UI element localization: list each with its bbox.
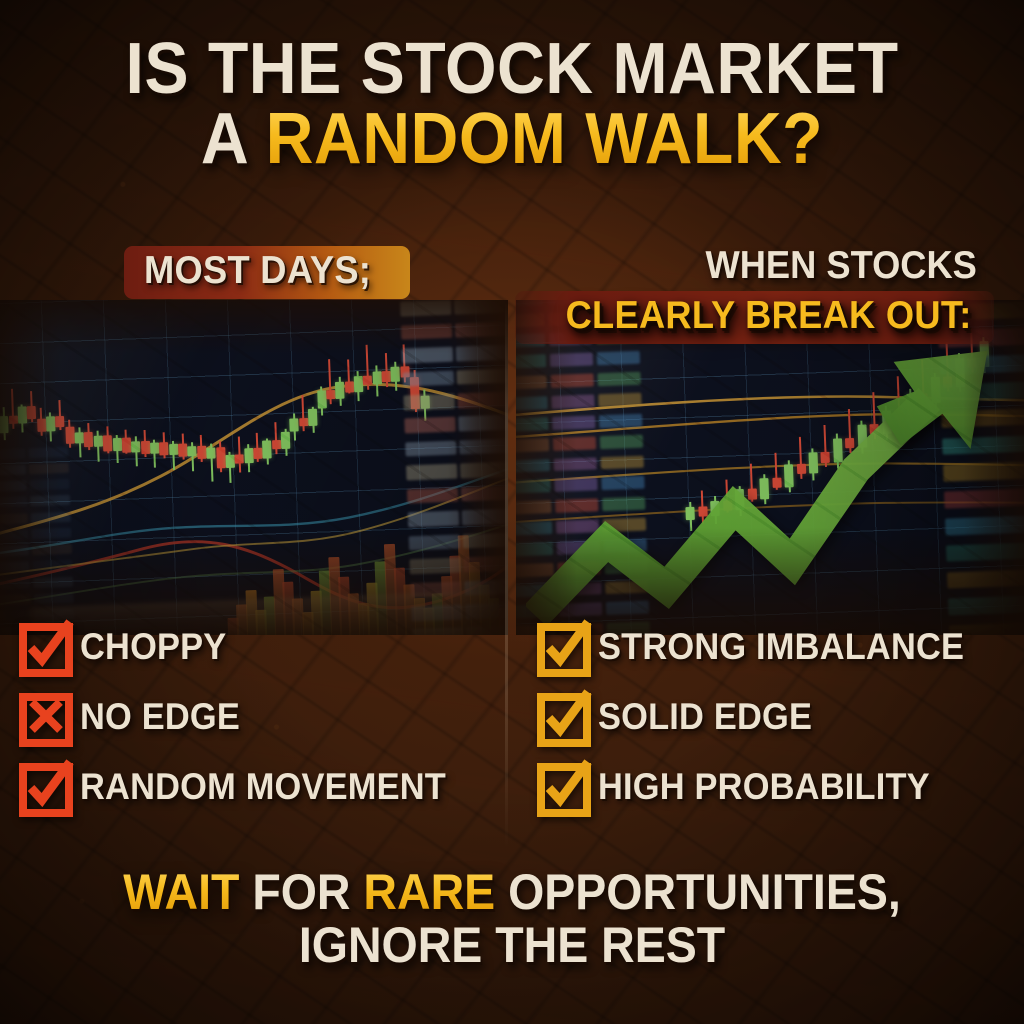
candle-wick [134, 436, 137, 467]
candlestick [159, 442, 168, 455]
poster-canvas: IS THE STOCK MARKET A RANDOM WALK? MOST … [0, 0, 1024, 1024]
candlestick [344, 381, 353, 392]
candle-wick [320, 386, 323, 415]
candlestick [121, 437, 131, 453]
check-icon [18, 618, 74, 674]
candlestick [353, 376, 363, 392]
candlestick [281, 431, 291, 449]
price-ladder-row [33, 576, 74, 588]
candlestick [363, 376, 372, 385]
checkbox-left-0[interactable] [22, 627, 62, 667]
checklist-item-label: CHOPPY [80, 626, 226, 668]
candle-wick [78, 427, 81, 458]
price-ladder-row [28, 446, 69, 458]
footer-line-1: WAIT FOR RARE OPPORTUNITIES, [36, 866, 988, 919]
chart-panel-right [516, 300, 1024, 635]
price-ladder-row [33, 592, 74, 604]
candlestick [27, 406, 36, 419]
candle-wick [365, 345, 369, 390]
candle-wick [87, 423, 90, 450]
price-ladder-row [403, 394, 454, 410]
checkbox-right-2[interactable] [540, 767, 580, 807]
price-ladder-row [0, 480, 27, 492]
candlestick [17, 406, 27, 424]
candlestick [93, 436, 102, 447]
footer-callout: WAIT FOR RARE OPPORTUNITIES, IGNORE THE … [0, 866, 1024, 972]
price-ladder-row [402, 370, 453, 386]
headline-line-2: A RANDOM WALK? [41, 106, 983, 172]
checklist-right: STRONG IMBALANCESOLID EDGEHIGH PROBABILI… [540, 612, 992, 822]
candle-wick [347, 360, 350, 394]
candle-wick [266, 438, 269, 464]
checklist-item[interactable]: RANDOM MOVEMENT [22, 752, 474, 822]
candle-wick [210, 444, 213, 482]
candle-wick [237, 437, 240, 473]
footer-word-wait: WAIT [123, 864, 239, 920]
checklist-item[interactable]: SOLID EDGE [540, 682, 992, 752]
candle-wick [97, 431, 100, 462]
subtitle-banner-left: MOST DAYS; [124, 246, 410, 299]
checkbox-left-2[interactable] [22, 767, 62, 807]
price-ladder-row [0, 529, 29, 541]
candle-wick [394, 361, 397, 390]
price-ladder-row [405, 440, 456, 456]
candlestick [326, 390, 335, 399]
price-ladder-row [30, 495, 71, 507]
price-ladder-row [0, 464, 26, 476]
candle-wick [11, 388, 14, 428]
subtitle-band-right: CLEARLY BREAK OUT: [515, 291, 994, 344]
trading-screen-left [0, 300, 508, 635]
candlestick [244, 448, 254, 464]
footer-word-rare: RARE [363, 864, 495, 920]
price-ladder-row [0, 545, 29, 557]
checklist-item-label: HIGH PROBABILITY [598, 766, 930, 808]
candle-wick [40, 408, 43, 436]
checklist-item[interactable]: CHOPPY [22, 612, 474, 682]
candle-wick [375, 365, 378, 396]
candle-wick [256, 433, 259, 462]
checklist-item-label: RANDOM MOVEMENT [80, 766, 446, 808]
candlestick [140, 441, 149, 454]
candle-wick [30, 391, 33, 422]
candle-wick [115, 435, 118, 463]
price-ladder-row [31, 544, 72, 556]
subtitle-banner-right: WHEN STOCKS CLEARLY BREAK OUT: [515, 246, 994, 344]
subtitle-right-line-2: CLEARLY BREAK OUT: [566, 296, 972, 335]
candlestick [271, 440, 280, 449]
footer-line-2: IGNORE THE REST [36, 919, 988, 972]
candle-wick [357, 371, 360, 400]
candle-wick [106, 427, 109, 454]
candlestick [289, 418, 298, 431]
candle-wick [274, 422, 277, 453]
candlestick [317, 391, 327, 409]
subtitle-band-left: MOST DAYS; [124, 246, 410, 299]
candle-wick [311, 406, 314, 432]
headline-line-1: IS THE STOCK MARKET [41, 36, 983, 102]
candle-wick [229, 452, 232, 483]
cross-icon [18, 688, 74, 744]
candlestick [84, 432, 94, 448]
price-ladder-row [408, 511, 459, 527]
footer-word-for: FOR [239, 864, 363, 920]
candle-wick [21, 404, 24, 433]
footer-word-opportunities: OPPORTUNITIES, [495, 864, 901, 920]
checklist-item[interactable]: NO EDGE [22, 682, 474, 752]
price-ladder-row [400, 300, 451, 316]
candlestick [335, 381, 345, 399]
price-ladder-row [0, 578, 30, 590]
candle-wick [247, 444, 250, 472]
candlestick [112, 437, 121, 450]
screen-tilt-wrapper-left [0, 300, 508, 635]
candlestick [8, 415, 17, 424]
price-ladder-row [0, 562, 30, 574]
candle-wick [328, 359, 332, 404]
price-ladder-row [401, 323, 452, 339]
price-ladder-row [409, 558, 460, 574]
candlestick [169, 444, 178, 455]
subtitle-right-line-1: WHEN STOCKS [532, 246, 977, 287]
candle-wick [284, 429, 287, 455]
checklist-left: CHOPPYNO EDGERANDOM MOVEMENT [22, 612, 474, 822]
candle-wick [191, 442, 194, 471]
check-icon [18, 758, 74, 814]
check-icon [536, 688, 592, 744]
candlestick [197, 445, 206, 458]
candle-wick [384, 353, 387, 387]
subtitle-left-text: MOST DAYS; [144, 251, 371, 290]
candle-wick [49, 412, 52, 441]
candle-wick [301, 395, 304, 431]
candle-wick [162, 432, 165, 459]
price-ladder-row [0, 513, 28, 525]
checklist-item-label: STRONG IMBALANCE [598, 626, 964, 668]
candlestick [253, 447, 262, 458]
price-ladder-row [0, 594, 31, 606]
candlestick [131, 441, 140, 452]
candle-wick [58, 399, 61, 430]
chart-panel-left [0, 300, 508, 635]
candlestick [391, 366, 401, 382]
price-ladder-row [406, 464, 457, 480]
price-ladder-row [402, 347, 453, 363]
candlestick [150, 443, 159, 454]
candlestick [299, 417, 308, 426]
candle-wick [293, 413, 296, 440]
candle-wick [125, 429, 128, 453]
headline-line-2-prefix: A [201, 99, 266, 179]
check-icon [536, 618, 592, 674]
candle-wick [219, 441, 222, 472]
candle-wick [200, 435, 203, 462]
candlestick [36, 418, 45, 431]
price-ladder-row [28, 462, 69, 474]
price-ladder-row [29, 479, 70, 491]
candle-wick [2, 407, 5, 440]
headline-block: IS THE STOCK MARKET A RANDOM WALK? [0, 36, 1024, 172]
candlestick [235, 455, 244, 464]
candlestick [381, 371, 390, 382]
candle-wick [143, 430, 146, 457]
price-ladder-row [31, 527, 72, 539]
panel-divider [505, 302, 508, 847]
breakout-arrow-icon [526, 310, 1014, 625]
candlestick [55, 416, 64, 427]
price-ladder-row [30, 511, 71, 523]
checkbox-left-1[interactable] [22, 697, 62, 737]
candlestick [262, 441, 272, 459]
checklist-item-label: SOLID EDGE [598, 696, 812, 738]
candle-wick [172, 441, 175, 470]
candle-wick [181, 433, 184, 460]
checklist-item[interactable]: HIGH PROBABILITY [540, 752, 992, 822]
checkbox-right-1[interactable] [540, 697, 580, 737]
candle-wick [338, 377, 341, 406]
headline-line-2-highlight: RANDOM WALK? [266, 99, 823, 179]
candlestick [225, 455, 234, 468]
candlestick [46, 416, 56, 432]
candlestick [206, 447, 215, 458]
checkbox-right-0[interactable] [540, 627, 580, 667]
trading-screen-right [516, 300, 1024, 635]
price-ladder-row [404, 417, 455, 433]
price-ladder-row [0, 497, 27, 509]
candlestick [178, 444, 187, 457]
candlestick [308, 408, 318, 426]
price-ladder-row [407, 487, 458, 503]
candlestick [103, 436, 113, 452]
candlestick [74, 432, 83, 443]
price-ladder-row [408, 534, 459, 550]
price-ladder-row [0, 448, 26, 460]
checklist-item-label: NO EDGE [80, 696, 240, 738]
price-ladder-row [32, 560, 73, 572]
candlestick [216, 447, 226, 469]
candlestick [0, 415, 8, 433]
candlestick [65, 426, 75, 444]
candlestick [187, 446, 196, 457]
candle-wick [153, 439, 156, 468]
checklist-item[interactable]: STRONG IMBALANCE [540, 612, 992, 682]
candlestick [372, 371, 381, 384]
check-icon [536, 758, 592, 814]
